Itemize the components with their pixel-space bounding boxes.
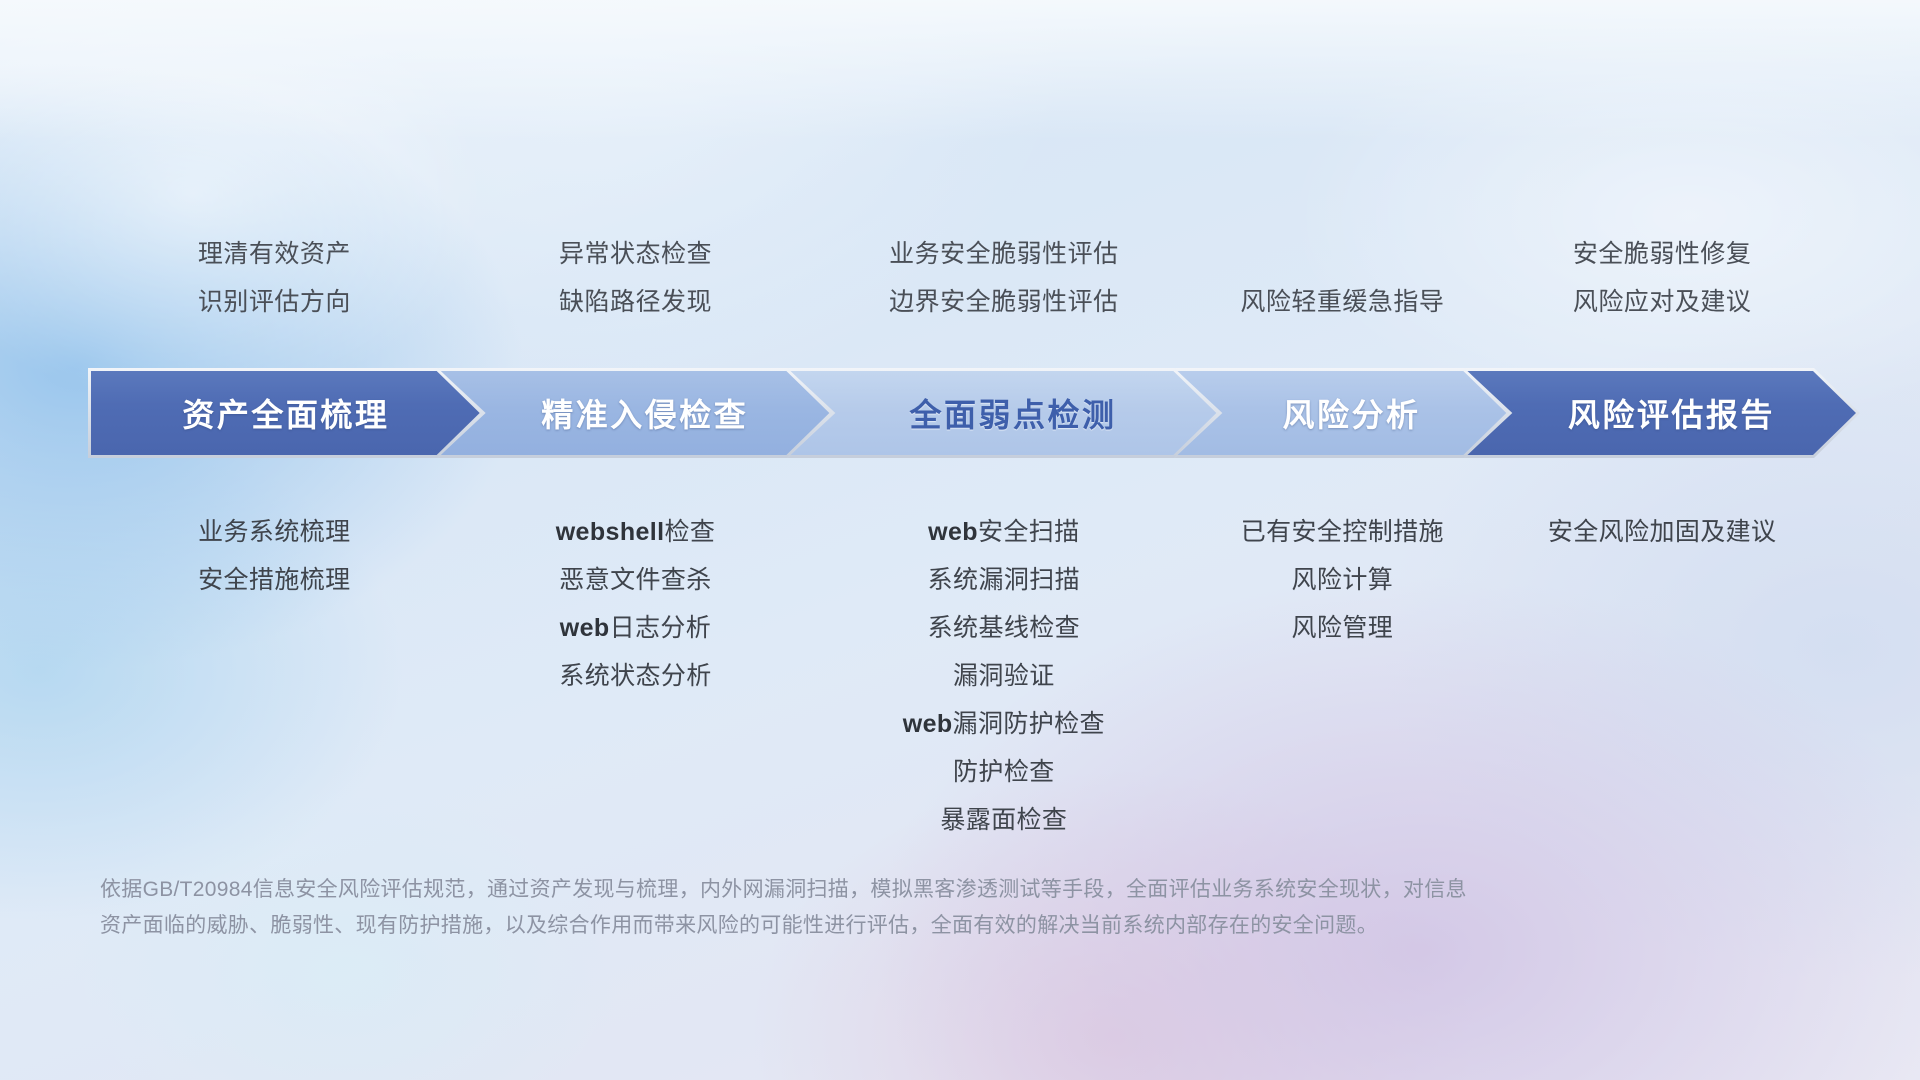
bottom-list-intrusion-check: webshell检查恶意文件查杀web日志分析系统状态分析 [461,508,811,700]
top-list-item: 缺陷路径发现 [461,278,811,326]
top-list-item: 业务安全脆弱性评估 [810,230,1197,278]
bottom-list-asset-inventory: 业务系统梳理安全措施梳理 [88,508,461,604]
top-list-item: 理清有效资产 [88,230,461,278]
bottom-list-item: 风险计算 [1197,556,1487,604]
bottom-list-item: 系统漏洞扫描 [810,556,1197,604]
description-line-1: 依据GB/T20984信息安全风险评估规范，通过资产发现与梳理，内外网漏洞扫描，… [100,872,1660,908]
process-chevron-band: 资产全面梳理精准入侵检查全面弱点检测风险分析风险评估报告 [88,368,1860,458]
chevron-stage-risk-analysis[interactable]: 风险分析 [1174,368,1510,458]
bottom-list-item: 安全风险加固及建议 [1487,508,1837,556]
bottom-list-item: 暴露面检查 [810,796,1197,844]
chevron-stage-intrusion-check[interactable]: 精准入侵检查 [438,368,834,458]
bottom-list-item: 风险管理 [1197,604,1487,652]
bottom-list-risk-report: 安全风险加固及建议 [1487,508,1837,556]
chevron-title-risk-report: 风险评估报告 [1568,390,1775,436]
chevron-title-weakness-detection: 全面弱点检测 [910,390,1117,436]
bottom-list-item: 安全措施梳理 [88,556,461,604]
top-list-risk-analysis: 风险轻重缓急指导 [1197,278,1487,326]
top-list-item: 风险轻重缓急指导 [1197,278,1487,326]
bottom-list-item: 业务系统梳理 [88,508,461,556]
top-list-asset-inventory: 理清有效资产识别评估方向 [88,230,461,326]
bottom-list-item: 系统基线检查 [810,604,1197,652]
bold-term: webshell [556,518,665,546]
top-list-item: 异常状态检查 [461,230,811,278]
slide-canvas: 资产全面梳理精准入侵检查全面弱点检测风险分析风险评估报告 理清有效资产识别评估方… [0,0,1920,1080]
top-list-item: 边界安全脆弱性评估 [810,278,1197,326]
chevron-stage-risk-report[interactable]: 风险评估报告 [1464,368,1860,458]
top-list-intrusion-check: 异常状态检查缺陷路径发现 [461,230,811,326]
chevron-stage-asset-inventory[interactable]: 资产全面梳理 [88,368,484,458]
bottom-list-item: 防护检查 [810,748,1197,796]
chevron-title-asset-inventory: 资产全面梳理 [182,390,389,436]
description-paragraph: 依据GB/T20984信息安全风险评估规范，通过资产发现与梳理，内外网漏洞扫描，… [100,872,1660,944]
bottom-list-item: webshell检查 [461,508,811,556]
bottom-list-item: web日志分析 [461,604,811,652]
bottom-list-item: 漏洞验证 [810,652,1197,700]
bottom-list-item: 系统状态分析 [461,652,811,700]
bold-term: web [903,710,953,738]
top-list-weakness-detection: 业务安全脆弱性评估边界安全脆弱性评估 [810,230,1197,326]
top-list-item: 识别评估方向 [88,278,461,326]
bold-term: web [560,614,610,642]
description-line-2: 资产面临的威胁、脆弱性、现有防护措施，以及综合作用而带来风险的可能性进行评估，全… [100,908,1660,944]
top-list-risk-report: 安全脆弱性修复风险应对及建议 [1487,230,1837,326]
bold-term: web [928,518,978,546]
chevron-title-intrusion-check: 精准入侵检查 [541,390,748,436]
bottom-list-weakness-detection: web安全扫描系统漏洞扫描系统基线检查漏洞验证web漏洞防护检查防护检查暴露面检… [810,508,1197,844]
bottom-list-item: 已有安全控制措施 [1197,508,1487,556]
top-list-item: 风险应对及建议 [1487,278,1837,326]
chevron-stage-weakness-detection[interactable]: 全面弱点检测 [787,368,1220,458]
chevron-title-risk-analysis: 风险分析 [1283,390,1421,436]
bottom-list-item: web漏洞防护检查 [810,700,1197,748]
bottom-list-risk-analysis: 已有安全控制措施风险计算风险管理 [1197,508,1487,652]
bottom-list-item: 恶意文件查杀 [461,556,811,604]
top-list-item: 安全脆弱性修复 [1487,230,1837,278]
bottom-list-item: web安全扫描 [810,508,1197,556]
